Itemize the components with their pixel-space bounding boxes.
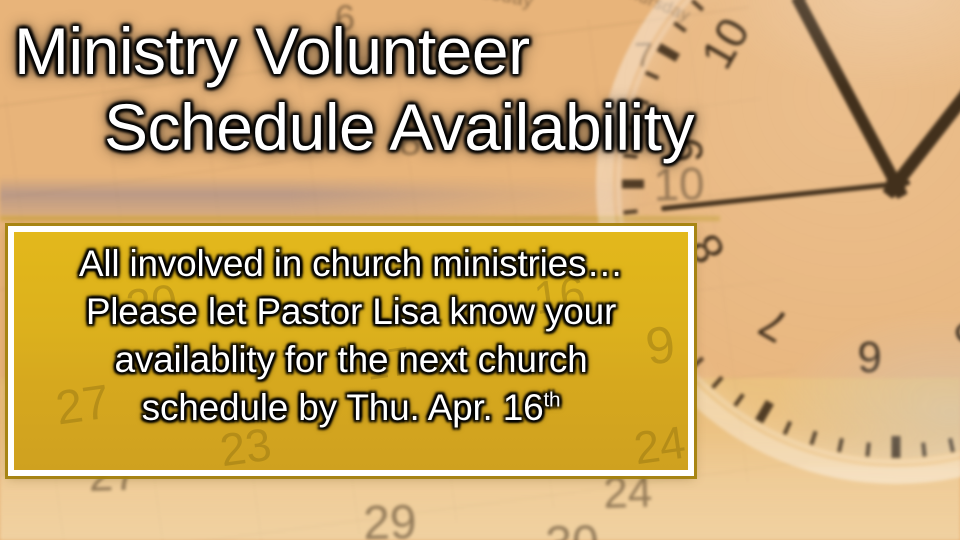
announcement-line-3: availablity for the next church — [24, 336, 678, 384]
ordinal-suffix: th — [543, 389, 560, 412]
announcement-text: All involved in church ministries… Pleas… — [14, 232, 688, 432]
calendar-date-number: 29 — [362, 495, 417, 540]
slide-title-line-1: Ministry Volunteer — [0, 18, 800, 86]
announcement-line-4: schedule by Thu. Apr. 16th — [24, 384, 678, 432]
calendar-day-label: Wednesday — [429, 0, 536, 13]
announcement-callout-box: 2016927232417 All involved in church min… — [8, 226, 694, 476]
announcement-line-1: All involved in church ministries… — [24, 240, 678, 288]
announcement-line-2: Please let Pastor Lisa know your — [24, 288, 678, 336]
calendar-date-number: 30 — [545, 515, 600, 540]
announcement-due-date: schedule by Thu. Apr. 16 — [142, 387, 544, 428]
slide-title: Ministry Volunteer Schedule Availability — [0, 18, 800, 162]
slide-canvas: WednesdayThursday67811410162027232429309… — [0, 0, 960, 540]
slide-title-line-2: Schedule Availability — [0, 94, 800, 162]
